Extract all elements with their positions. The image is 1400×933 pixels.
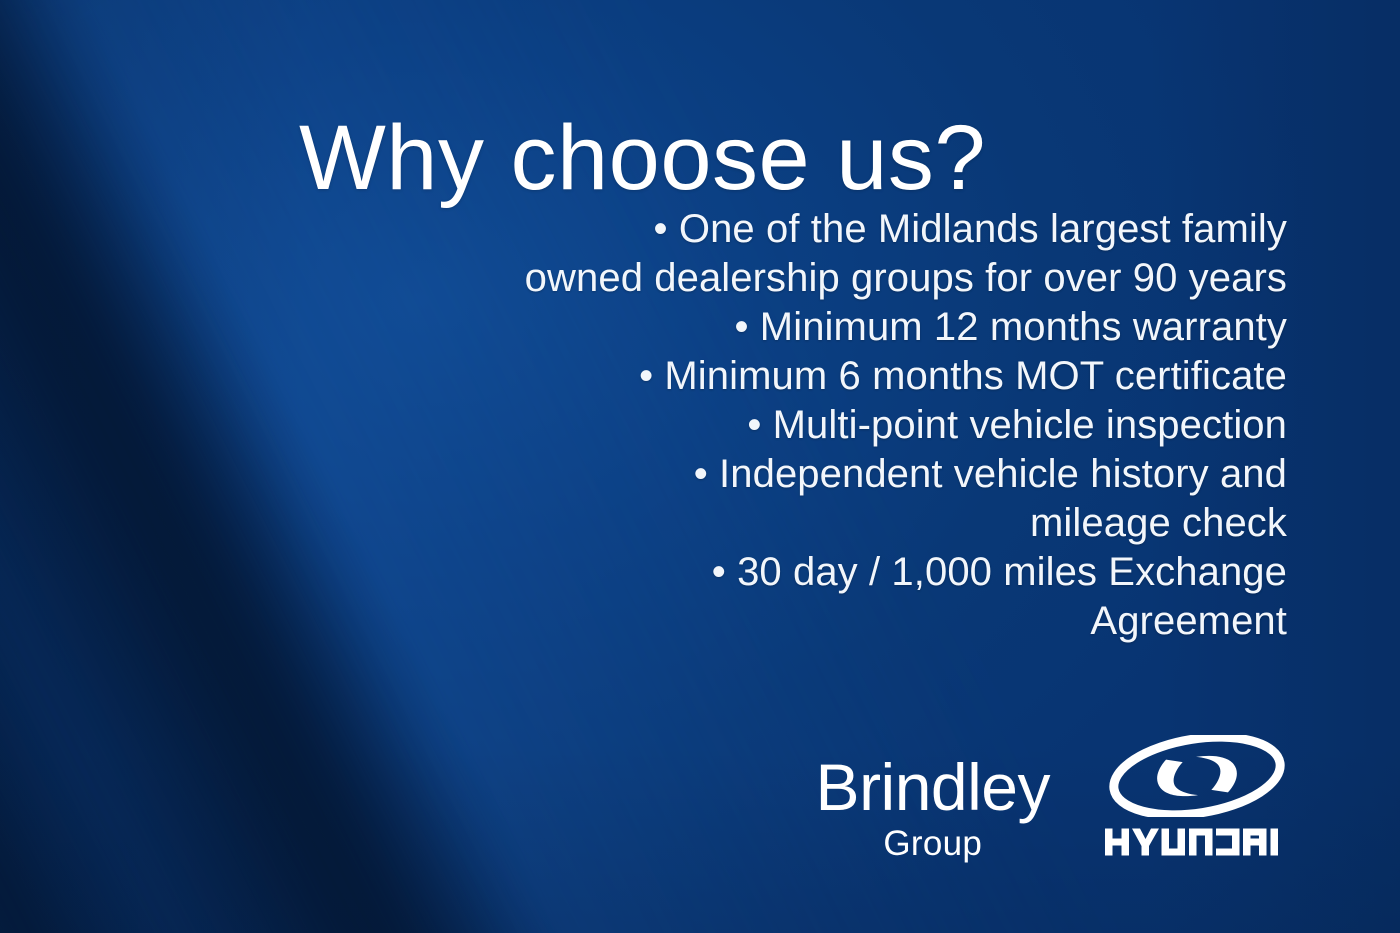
slide-content: Why choose us? • One of the Midlands lar…	[0, 0, 1400, 933]
brindley-group-subtext: Group	[816, 826, 1050, 861]
hyundai-logo	[1104, 735, 1290, 861]
list-item: owned dealership groups for over 90 year…	[457, 254, 1287, 303]
list-item: • Multi-point vehicle inspection	[457, 401, 1287, 450]
list-item: • 30 day / 1,000 miles Exchange	[457, 548, 1287, 597]
brindley-wordmark: Brindley	[816, 754, 1050, 820]
list-item: • Minimum 6 months MOT certificate	[457, 352, 1287, 401]
list-item: Agreement	[457, 597, 1287, 646]
list-item: mileage check	[457, 499, 1287, 548]
list-item: • One of the Midlands largest family	[457, 205, 1287, 254]
logo-lockup: Brindley Group	[816, 735, 1290, 861]
hyundai-wordmark	[1104, 825, 1290, 859]
page-title: Why choose us?	[0, 110, 1285, 207]
promo-slide: Why choose us? • One of the Midlands lar…	[0, 0, 1400, 933]
list-item: • Independent vehicle history and	[457, 450, 1287, 499]
hyundai-emblem-icon	[1107, 735, 1287, 817]
list-item: • Minimum 12 months warranty	[457, 303, 1287, 352]
brindley-group-logo: Brindley Group	[816, 754, 1050, 861]
benefits-list: • One of the Midlands largest family own…	[457, 205, 1287, 646]
